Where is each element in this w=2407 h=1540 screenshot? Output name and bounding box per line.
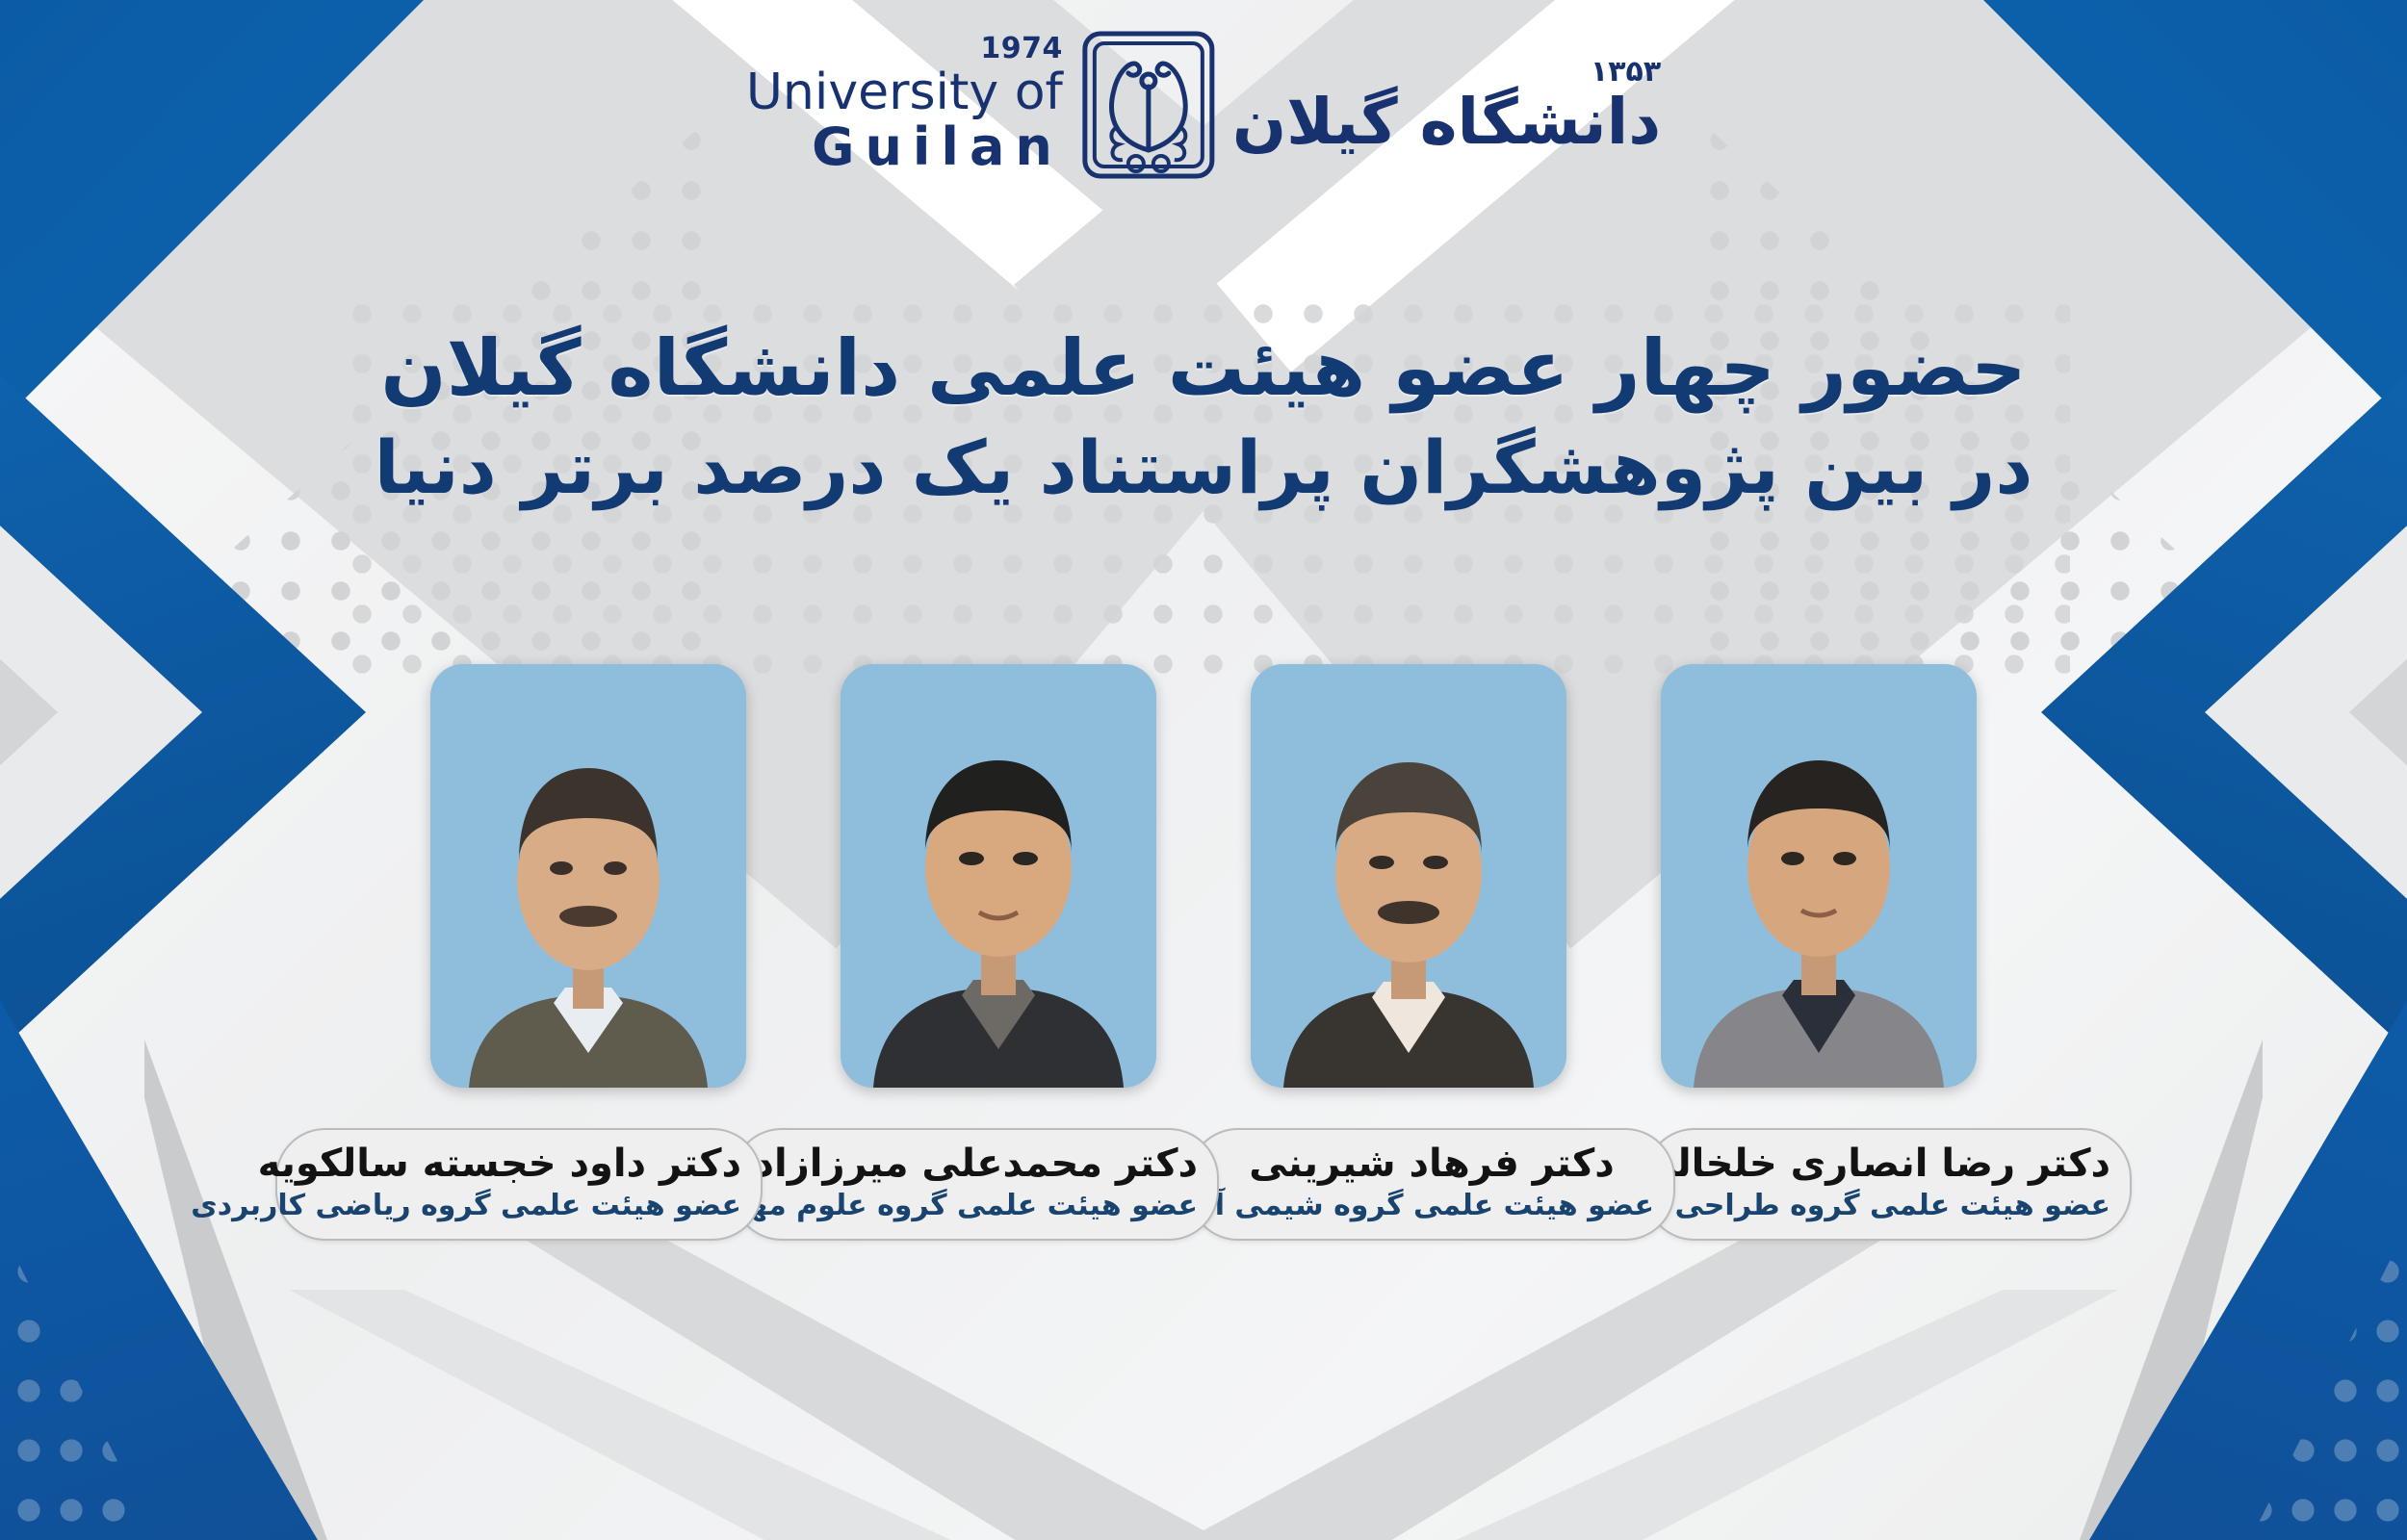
nameplate-farhad-shirini[interactable]: دکتر فرهاد شیرینی عضو هیئت علمی گروه شیم… <box>1188 1128 1675 1241</box>
logo-english-block: 1974 University of Guilan <box>746 35 1076 173</box>
nameplate-department: عضو هیئت علمی گروه ریاضی کاربردی <box>297 1189 741 1223</box>
portrait-photo-1 <box>430 664 746 1088</box>
nameplate-name: دکتر رضا انصاری خلخالی <box>1666 1142 2110 1186</box>
headline: حضور چهار عضو هیئت علمی دانشگاه گیلان در… <box>0 318 2407 516</box>
logo-persian-block: ۱۳۵۳ دانشگاه گیلان <box>1221 55 1661 154</box>
portrait-photo-2 <box>841 664 1156 1088</box>
headline-line-1: حضور چهار عضو هیئت علمی دانشگاه گیلان <box>0 318 2407 420</box>
nameplate-reza-ansari-khalkhali[interactable]: دکتر رضا انصاری خلخالی عضو هیئت علمی گرو… <box>1644 1128 2132 1241</box>
portrait-photo-3 <box>1251 664 1566 1088</box>
poster-canvas: 1974 University of Guilan <box>0 0 2407 1540</box>
nameplate-department: عضو هیئت علمی گروه شیمی آلی <box>1209 1189 1654 1223</box>
logo-university-name-persian: دانشگاه گیلان <box>1232 90 1661 154</box>
nameplate-name: دکتر فرهاد شیرینی <box>1209 1142 1654 1186</box>
nameplate-name: دکتر داود خجسته سالکویه <box>297 1142 741 1186</box>
logo-year-english: 1974 <box>980 35 1063 64</box>
person-card <box>1661 664 1977 1088</box>
nameplate-department: عضو هیئت علمی گروه طراحی جامدات <box>1666 1189 2110 1223</box>
person-card <box>1251 664 1566 1088</box>
university-emblem-icon <box>1076 27 1221 181</box>
university-logo: 1974 University of Guilan <box>746 27 1661 181</box>
logo-university-name-english: Guilan <box>812 121 1063 173</box>
nameplate-department: عضو هیئت علمی گروه علوم مهندسی <box>753 1189 1198 1223</box>
logo-year-persian: ۱۳۵۳ <box>1591 55 1661 89</box>
logo-university-word: University of <box>746 67 1063 117</box>
nameplate-mohammadali-mirzazadeh[interactable]: دکتر محمدعلی میرزازاده عضو هیئت علمی گرو… <box>732 1128 1219 1241</box>
portrait-photo-4 <box>1661 664 1977 1088</box>
nameplate-davood-khojasteh-salkuyeh[interactable]: دکتر داود خجسته سالکویه عضو هیئت علمی گر… <box>275 1128 763 1241</box>
nameplate-name: دکتر محمدعلی میرزازاده <box>753 1142 1198 1186</box>
portrait-row <box>0 664 2407 1088</box>
nameplate-row: دکتر رضا انصاری خلخالی عضو هیئت علمی گرو… <box>0 1128 2407 1241</box>
person-card <box>841 664 1156 1088</box>
person-card <box>430 664 746 1088</box>
headline-line-2: در بین پژوهشگران پراستناد یک درصد برتر د… <box>0 420 2407 516</box>
